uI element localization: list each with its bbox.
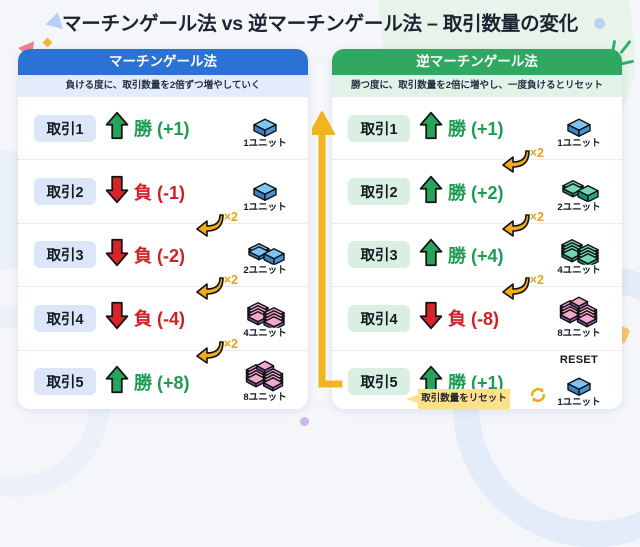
multiply-arrow-icon: [500, 211, 530, 237]
trade-label-chip: 取引3: [348, 241, 410, 268]
unit-icon: [228, 362, 302, 392]
table-row: 取引4負 (-8)8ユニット×2: [332, 287, 622, 350]
multiply-arrow-icon: [500, 147, 530, 173]
table-row: 取引1勝 (+1)1ユニット: [332, 97, 622, 160]
multiplier-label: ×2: [224, 337, 238, 351]
trade-label-chip: 取引4: [34, 305, 96, 332]
outcome-up-arrow: [105, 365, 129, 399]
unit-icon: [228, 171, 302, 201]
unit-count-block: 1ユニット: [228, 171, 302, 212]
trade-label-chip: 取引5: [34, 368, 96, 395]
multiplier-label: ×2: [224, 210, 238, 224]
unit-count-label: 2ユニット: [542, 202, 616, 212]
green-dash-decoration-3: [621, 60, 634, 66]
outcome-down-arrow: [105, 301, 129, 335]
unit-icon: [228, 298, 302, 328]
arrow-down-icon: [105, 175, 129, 204]
unit-count-block: 8ユニット: [228, 362, 302, 403]
trade-label-chip: 取引4: [348, 305, 410, 332]
unit-stack-icon-1: [564, 372, 594, 396]
outcome-down-arrow: [105, 238, 129, 272]
outcome-result-text: 勝 (+1): [134, 115, 190, 141]
reset-word-label: RESET: [542, 354, 616, 365]
outcome-up-arrow: [419, 238, 443, 272]
outcome-down-arrow: [105, 175, 129, 209]
multiplier-label: ×2: [530, 273, 544, 287]
orange-diamond-decoration: [43, 38, 53, 48]
unit-count-block: 1ユニット: [542, 108, 616, 149]
unit-count-label: 8ユニット: [228, 393, 302, 403]
arrow-up-icon: [419, 111, 443, 140]
unit-icon: [542, 171, 616, 201]
unit-stack-icon-8: [240, 360, 290, 392]
unit-count-block: RESET1ユニット: [542, 354, 616, 407]
unit-stack-icon-1: [564, 114, 594, 138]
trade-rows-anti-martingale: 取引1勝 (+1)1ユニット取引2勝 (+2)2ユニット×2取引3勝 (+4)4…: [332, 97, 622, 409]
unit-icon: [542, 366, 616, 396]
panel-header-martingale: マーチンゲール法: [18, 49, 308, 75]
multiplier-badge: ×2: [194, 338, 238, 368]
arrow-down-icon: [105, 301, 129, 330]
unit-stack-icon-4: [242, 300, 288, 328]
panel-subtitle-martingale: 負ける度に、取引数量を2倍ずつ増やしていく: [18, 75, 308, 97]
unit-count-label: 2ユニット: [228, 266, 302, 276]
green-dash-decoration-2: [619, 40, 631, 54]
panel-subtitle-anti-martingale: 勝つ度に、取引数量を2倍に増やし、一度負けるとリセット: [332, 75, 622, 97]
multiplier-badge: ×2: [194, 274, 238, 304]
unit-count-label: 1ユニット: [228, 202, 302, 212]
table-row: 取引4負 (-4)4ユニット×2: [18, 287, 308, 350]
outcome-result-text: 勝 (+1): [448, 115, 504, 141]
outcome-down-arrow: [419, 301, 443, 335]
table-row: 取引2勝 (+2)2ユニット×2: [332, 160, 622, 223]
unit-stack-icon-4: [556, 237, 602, 265]
reset-banner: 取引数量をリセット: [406, 389, 510, 409]
multiplier-badge: ×2: [194, 211, 238, 241]
multiplier-badge: ×2: [500, 147, 544, 177]
unit-count-block: 4ユニット: [542, 235, 616, 276]
unit-stack-icon-1: [250, 177, 280, 201]
infographic-canvas: マーチンゲール法 vs 逆マーチンゲール法 – 取引数量の変化 マーチンゲール法…: [0, 0, 640, 427]
unit-count-label: 1ユニット: [542, 139, 616, 149]
unit-icon: [228, 235, 302, 265]
unit-count-block: 1ユニット: [228, 108, 302, 149]
outcome-up-arrow: [419, 175, 443, 209]
arrow-up-icon: [105, 111, 129, 140]
table-row: 取引3勝 (+4)4ユニット×2: [332, 224, 622, 287]
arrow-up-icon: [419, 175, 443, 204]
panel-header-anti-martingale: 逆マーチンゲール法: [332, 49, 622, 75]
unit-count-block: 4ユニット: [228, 298, 302, 339]
multiplier-label: ×2: [530, 210, 544, 224]
unit-count-label: 8ユニット: [542, 329, 616, 339]
panel-martingale: マーチンゲール法 負ける度に、取引数量を2倍ずつ増やしていく 取引1勝 (+1)…: [18, 49, 308, 409]
outcome-up-arrow: [419, 111, 443, 145]
table-row: 取引2負 (-1)1ユニット: [18, 160, 308, 223]
trade-label-chip: 取引2: [348, 178, 410, 205]
unit-icon: [542, 235, 616, 265]
multiplier-badge: ×2: [500, 211, 544, 241]
trade-label-chip: 取引1: [348, 115, 410, 142]
multiply-arrow-icon: [194, 211, 224, 237]
unit-count-block: 8ユニット: [542, 298, 616, 339]
unit-stack-icon-1: [250, 114, 280, 138]
multiply-arrow-icon: [194, 274, 224, 300]
unit-icon: [542, 108, 616, 138]
unit-count-label: 1ユニット: [228, 139, 302, 149]
outcome-result-text: 勝 (+8): [134, 369, 190, 395]
trade-label-chip: 取引5: [348, 368, 410, 395]
outcome-up-arrow: [105, 111, 129, 145]
trade-label-chip: 取引2: [34, 178, 96, 205]
panel-anti-martingale: 逆マーチンゲール法 勝つ度に、取引数量を2倍に増やし、一度負けるとリセット 取引…: [332, 49, 622, 409]
unit-count-block: 2ユニット: [228, 235, 302, 276]
unit-count-block: 2ユニット: [542, 171, 616, 212]
table-row: 取引5勝 (+8)8ユニット×2: [18, 351, 308, 409]
outcome-result-text: 負 (-2): [134, 242, 185, 268]
arrow-down-icon: [419, 301, 443, 330]
trade-label-chip: 取引3: [34, 241, 96, 268]
page-title: マーチンゲール法 vs 逆マーチンゲール法 – 取引数量の変化: [0, 7, 640, 36]
trade-label-chip: 取引1: [34, 115, 96, 142]
trade-rows-martingale: 取引1勝 (+1)1ユニット取引2負 (-1)1ユニット取引3負 (-2)2ユニ…: [18, 97, 308, 409]
multiplier-badge: ×2: [500, 274, 544, 304]
unit-stack-icon-2: [557, 175, 601, 201]
unit-count-label: 4ユニット: [228, 329, 302, 339]
unit-stack-icon-2: [243, 239, 287, 265]
arrow-up-icon: [105, 365, 129, 394]
table-row: 取引1勝 (+1)1ユニット: [18, 97, 308, 160]
unit-icon: [542, 298, 616, 328]
unit-count-label: 1ユニット: [542, 397, 616, 407]
outcome-result-text: 負 (-4): [134, 305, 185, 331]
unit-icon: [228, 108, 302, 138]
purple-dot-decoration: [300, 417, 309, 426]
outcome-result-text: 勝 (+2): [448, 179, 504, 205]
multiply-arrow-icon: [500, 274, 530, 300]
multiplier-label: ×2: [530, 146, 544, 160]
reset-banner-label: 取引数量をリセット: [418, 389, 510, 409]
multiplier-label: ×2: [224, 273, 238, 287]
unit-count-label: 4ユニット: [542, 266, 616, 276]
outcome-result-text: 勝 (+4): [448, 242, 504, 268]
arrow-down-icon: [105, 238, 129, 267]
reset-loop-arrow: [312, 108, 346, 390]
arrow-up-icon: [419, 238, 443, 267]
outcome-result-text: 負 (-1): [134, 179, 185, 205]
unit-stack-icon-8: [554, 296, 604, 328]
multiply-arrow-icon: [194, 338, 224, 364]
outcome-result-text: 負 (-8): [448, 305, 499, 331]
table-row: 取引3負 (-2)2ユニット×2: [18, 224, 308, 287]
